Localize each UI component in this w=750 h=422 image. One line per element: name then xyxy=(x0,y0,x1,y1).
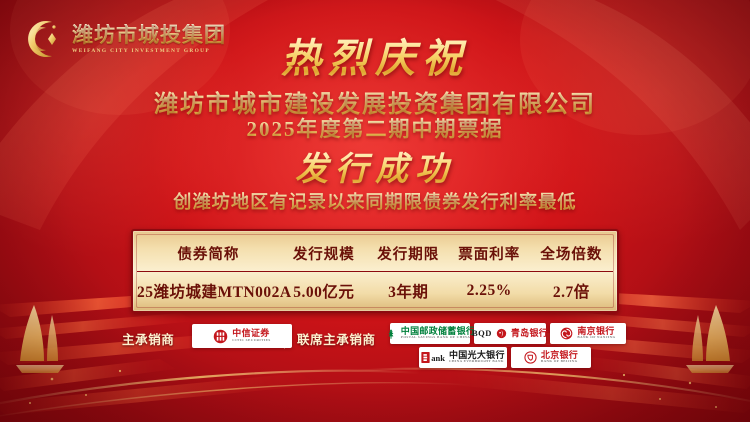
cell-coupon: 2.25% xyxy=(449,271,530,311)
sponsor-bar: 主承销商 联席主承销商 中信证券 CITIC SECURITIES xyxy=(0,322,750,380)
bond-issue-name: 2025年度第二期中期票据 xyxy=(0,113,750,143)
sponsor-name-en: BANK OF BEIJING xyxy=(541,360,578,364)
sponsor-logo-psbc: 中国邮政储蓄银行 POSTAL SAVINGS BANK OF CHINA xyxy=(390,323,470,344)
sponsor-name-en: POSTAL SAVINGS BANK OF CHINA xyxy=(401,336,470,340)
sponsor-name-en: CHINA EVERBRIGHT BANK xyxy=(449,360,504,364)
celebration-poster: 潍坊市城投集团 WEIFANG CITY INVESTMENT GROUP 热烈… xyxy=(0,0,750,422)
table-header-bond-name: 债券简称 xyxy=(137,235,280,271)
logo-company-name: 潍坊市城投集团 xyxy=(72,24,226,47)
sponsor-logo-bqd: BQD 青岛银行 xyxy=(474,323,546,344)
table-header-coupon: 票面利率 xyxy=(449,235,530,271)
logo-company-name-en: WEIFANG CITY INVESTMENT GROUP xyxy=(72,48,226,54)
nanjing-swirl-icon xyxy=(560,327,573,340)
cell-term: 3年期 xyxy=(368,271,449,311)
cell-bond-name: 25潍坊城建MTN002A xyxy=(137,271,280,311)
cell-multiple: 2.7倍 xyxy=(530,271,613,311)
sponsor-logo-everbright-bank: ank 中国光大银行 CHINA EVERBRIGHT BANK xyxy=(419,347,507,368)
table-header-issue-size: 发行规模 xyxy=(280,235,368,271)
sponsor-logo-bank-of-beijing: 北京银行 BANK OF BEIJING xyxy=(511,347,591,368)
sponsor-logo-bank-of-nanjing: 南京银行 BANK OF NANJING xyxy=(550,323,626,344)
sponsor-name-cn: 青岛银行 xyxy=(511,329,548,338)
record-subtitle: 创潍坊地区有记录以来同期限债券发行利率最低 xyxy=(0,188,750,214)
cell-issue-size: 5.00亿元 xyxy=(280,271,368,311)
table-header-row: 债券简称 发行规模 发行期限 票面利率 全场倍数 xyxy=(137,235,613,271)
sponsor-name-en: BQD xyxy=(472,329,492,338)
lead-underwriter-label: 主承销商 xyxy=(122,329,174,348)
psbc-deer-icon xyxy=(385,328,397,340)
table-row: 25潍坊城建MTN002A 5.00亿元 3年期 2.25% 2.7倍 xyxy=(137,271,613,311)
table-header-term: 发行期限 xyxy=(368,235,449,271)
bqd-mark-icon xyxy=(496,328,507,339)
bond-details-table: 债券简称 发行规模 发行期限 票面利率 全场倍数 25潍坊城建MTN002A 5… xyxy=(131,229,619,313)
beijing-bank-icon xyxy=(524,351,537,364)
success-title: 发行成功 xyxy=(0,142,750,190)
sponsor-logo-citic: 中信证券 CITIC SECURITIES xyxy=(192,324,292,348)
table-header-multiple: 全场倍数 xyxy=(530,235,613,271)
citic-seal-icon xyxy=(213,329,228,344)
everbright-bank-icon: ank xyxy=(421,352,445,363)
sponsor-name-en: BANK OF NANJING xyxy=(577,336,615,340)
crescent-diamond-emblem-icon xyxy=(22,18,64,60)
company-logo: 潍坊市城投集团 WEIFANG CITY INVESTMENT GROUP xyxy=(22,18,226,60)
sponsor-name-en: CITIC SECURITIES xyxy=(232,339,270,343)
joint-underwriter-label: 联席主承销商 xyxy=(297,329,376,348)
